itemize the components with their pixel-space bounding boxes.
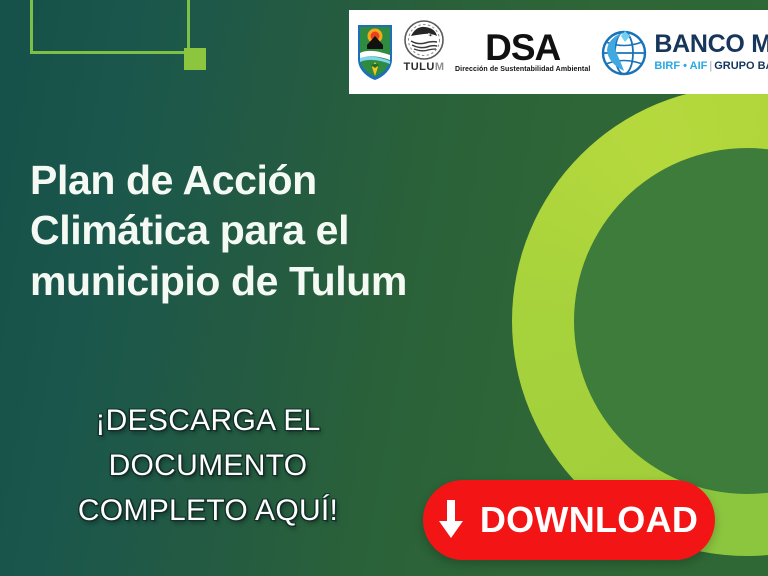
world-bank-name: BANCO MUNDIAL: [654, 32, 768, 57]
world-bank-tagline: BIRF • AIF|GRUPO BANCO MUNDIAL: [654, 61, 768, 72]
quintana-roo-coat-of-arms-icon: [355, 21, 395, 83]
ring-inner-fill: [574, 148, 768, 494]
tulum-logo: TULUM: [401, 20, 455, 84]
dsa-subtitle: Dirección de Sustentabilidad Ambiental: [455, 66, 590, 73]
download-button[interactable]: DOWNLOAD: [423, 480, 715, 560]
dsa-acronym: DSA: [485, 31, 560, 65]
world-bank-wordmark: BANCO MUNDIAL BIRF • AIF|GRUPO BANCO MUN…: [654, 32, 768, 72]
download-button-label: DOWNLOAD: [480, 502, 698, 538]
corner-accent-square: [184, 48, 206, 70]
dsa-logo: DSA Dirección de Sustentabilidad Ambient…: [455, 31, 590, 73]
promo-banner: TULUM DSA Dirección de Sustentabilidad A…: [0, 0, 768, 576]
tulum-logo-label: TULUM: [404, 62, 445, 73]
download-arrow-icon: [436, 498, 466, 542]
world-bank-logo: BANCO MUNDIAL BIRF • AIF|GRUPO BANCO MUN…: [600, 28, 768, 76]
logo-band: TULUM DSA Dirección de Sustentabilidad A…: [349, 10, 768, 94]
cta-text: ¡DESCARGA EL DOCUMENTO COMPLETO AQUÍ!: [18, 398, 398, 533]
quintana-roo-logo: [355, 21, 401, 83]
tulum-municipal-seal-icon: TULUM: [401, 20, 447, 84]
page-title: Plan de Acción Climática para el municip…: [30, 155, 490, 305]
corner-bracket-motif: [30, 0, 190, 54]
world-bank-globe-icon: [600, 28, 648, 76]
decorative-dot-grid: [574, 148, 768, 494]
